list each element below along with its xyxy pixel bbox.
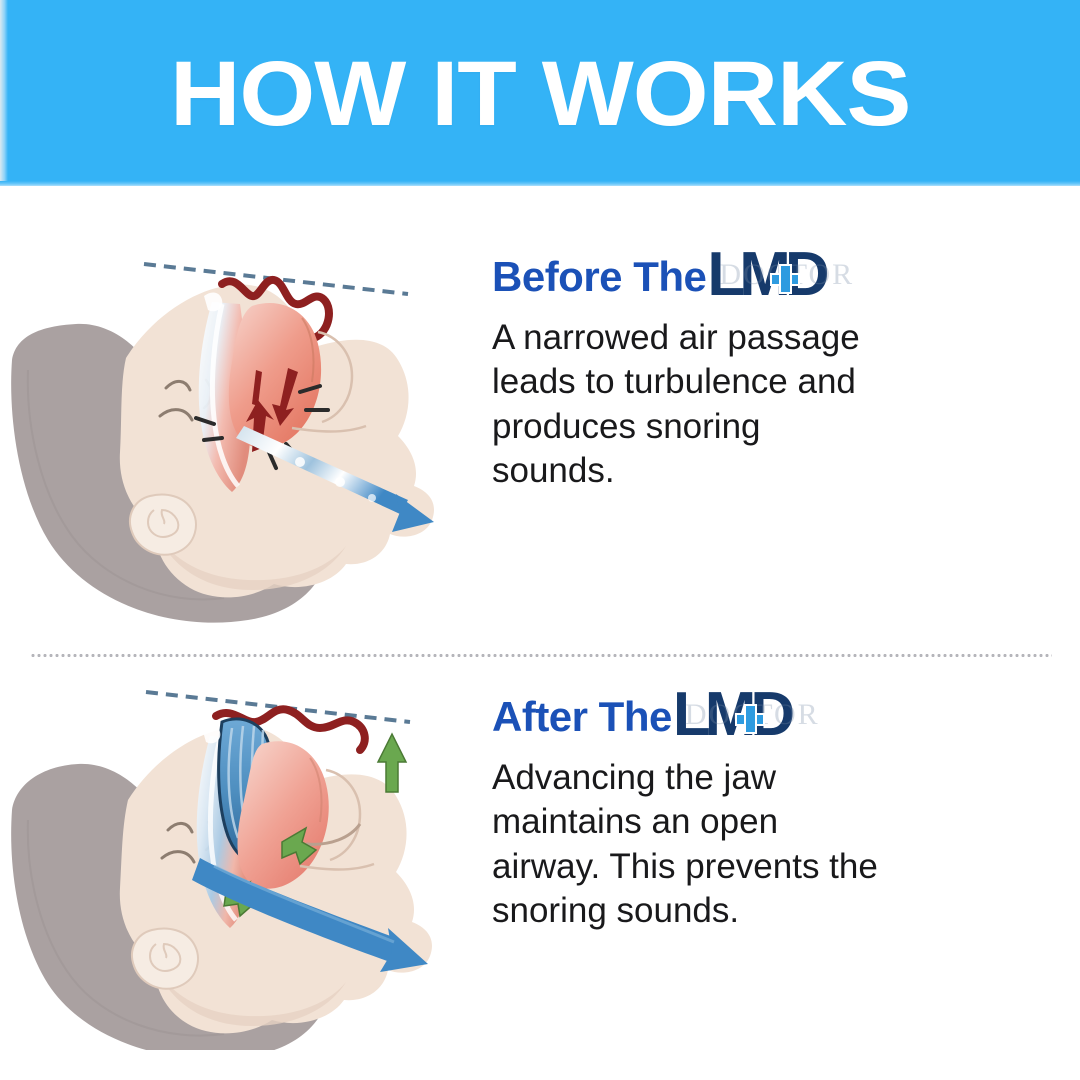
heading-before: Before The DOCTOR LMD: [492, 240, 1050, 302]
text-block-after: After The DOCTOR LMD Advancing the jaw m…: [470, 680, 1080, 934]
lmd-logo-text: LMD: [673, 684, 789, 746]
lmd-logo-text: LMD: [707, 244, 823, 306]
heading-after-label: After The: [492, 695, 672, 739]
medical-cross-icon: [735, 704, 765, 734]
text-block-before: Before The DOCTOR LMD A narrowed air pas…: [470, 240, 1080, 494]
section-before: Before The DOCTOR LMD A narrowed air pas…: [0, 240, 1080, 640]
header-banner: HOW IT WORKS: [0, 0, 1080, 186]
ear-shape: [130, 495, 196, 555]
body-text-after: Advancing the jaw maintains an open airw…: [492, 756, 922, 934]
medical-cross-icon: [770, 264, 800, 294]
sleeping-head-narrowed-airway-illustration: [0, 240, 470, 640]
page-title: HOW IT WORKS: [170, 48, 910, 140]
section-divider: [30, 654, 1052, 657]
illustration-before-wrapper: [0, 240, 470, 640]
banner-left-edge-accent: [0, 0, 8, 186]
ear-shape: [132, 929, 198, 989]
body-text-before: A narrowed air passage leads to turbulen…: [492, 316, 912, 494]
illustration-after-wrapper: [0, 680, 470, 1050]
lmd-logo: DOCTOR LMD: [673, 684, 789, 746]
section-after: After The DOCTOR LMD Advancing the jaw m…: [0, 680, 1080, 1050]
heading-after: After The DOCTOR LMD: [492, 680, 1050, 742]
lmd-logo: DOCTOR LMD: [707, 244, 823, 306]
sleeping-head-open-airway-illustration: [0, 680, 470, 1050]
heading-before-label: Before The: [492, 255, 706, 299]
banner-bottom-edge-accent: [0, 181, 1080, 186]
